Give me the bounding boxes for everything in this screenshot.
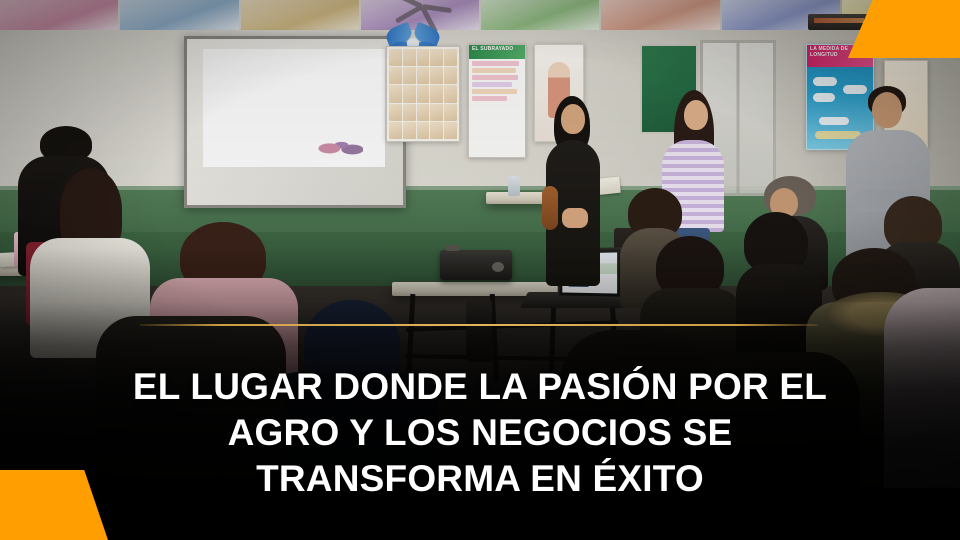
headline-block: EL LUGAR DONDE LA PASIÓN POR EL AGRO Y L… bbox=[70, 364, 890, 502]
headline-line-1: EL LUGAR DONDE LA PASIÓN POR EL bbox=[70, 364, 890, 410]
gold-divider-line bbox=[140, 324, 818, 326]
promo-banner: EL SUBRAYADO LA MEDIDA DE LONGITUD bbox=[0, 0, 960, 540]
headline-line-3: TRANSFORMA EN ÉXITO bbox=[70, 456, 890, 502]
headline-line-2: AGRO Y LOS NEGOCIOS SE bbox=[70, 410, 890, 456]
